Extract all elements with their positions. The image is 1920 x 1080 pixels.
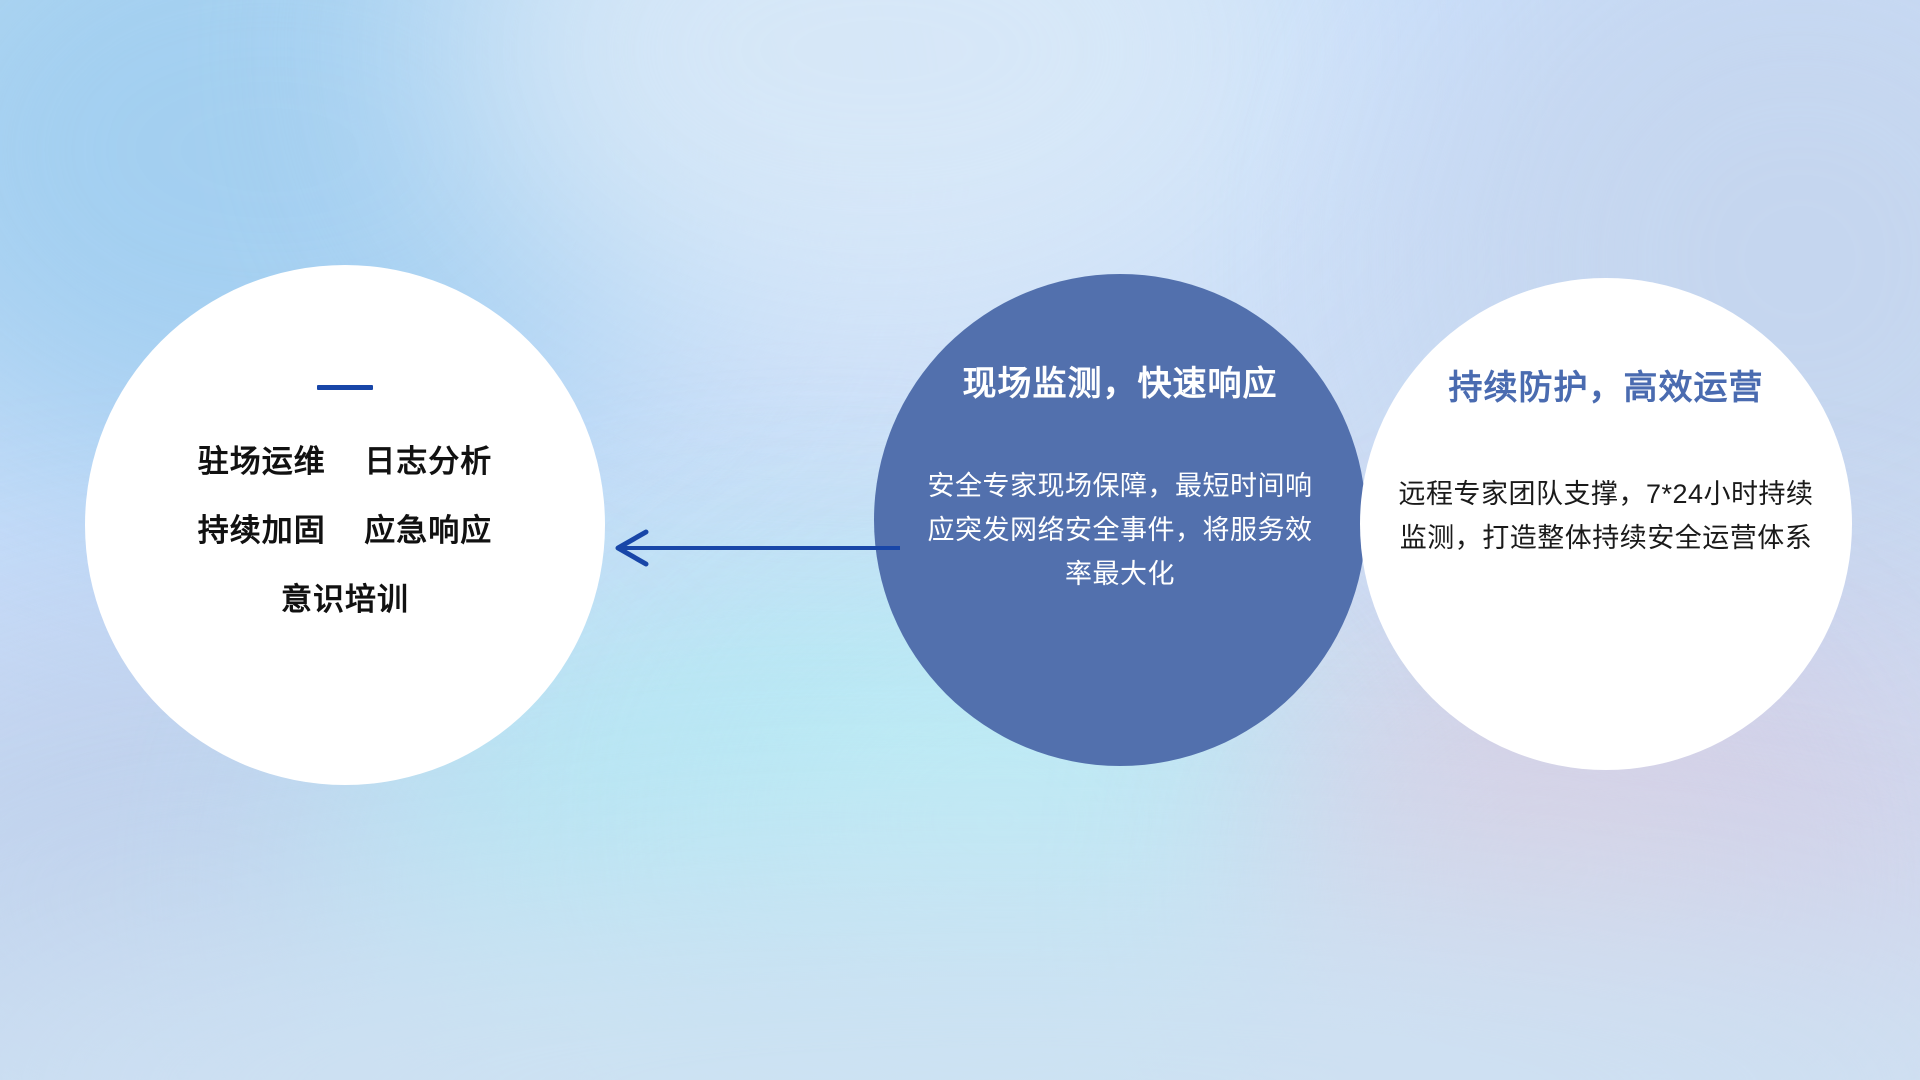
continuous-protection-content: 持续防护，高效运营 远程专家团队支撑，7*24小时持续监测，打造整体持续安全运营… [1390, 370, 1822, 561]
arrow-left-icon [600, 520, 900, 576]
onsite-monitoring-content: 现场监测，快速响应 安全专家现场保障，最短时间响应突发网络安全事件，将服务效率最… [926, 366, 1314, 597]
onsite-monitoring-body: 安全专家现场保障，最短时间响应突发网络安全事件，将服务效率最大化 [926, 465, 1314, 596]
continuous-protection-circle[interactable]: 持续防护，高效运营 远程专家团队支撑，7*24小时持续监测，打造整体持续安全运营… [1360, 278, 1852, 770]
continuous-protection-title: 持续防护，高效运营 [1390, 370, 1822, 407]
capability-row-1: 驻场运维 日志分析 [85, 446, 605, 477]
divider-dash-icon [317, 385, 373, 390]
onsite-monitoring-circle[interactable]: 现场监测，快速响应 安全专家现场保障，最短时间响应突发网络安全事件，将服务效率最… [874, 274, 1366, 766]
onsite-monitoring-title: 现场监测，快速响应 [926, 366, 1314, 403]
continuous-protection-body: 远程专家团队支撑，7*24小时持续监测，打造整体持续安全运营体系 [1390, 473, 1822, 560]
service-capabilities-circle[interactable]: 驻场运维 日志分析 持续加固 应急响应 意识培训 [85, 265, 605, 785]
capability-row-2: 持续加固 应急响应 [85, 515, 605, 546]
flow-arrow-left [600, 520, 900, 576]
service-capabilities-content: 驻场运维 日志分析 持续加固 应急响应 意识培训 [85, 385, 605, 615]
capability-row-3: 意识培训 [85, 584, 605, 615]
